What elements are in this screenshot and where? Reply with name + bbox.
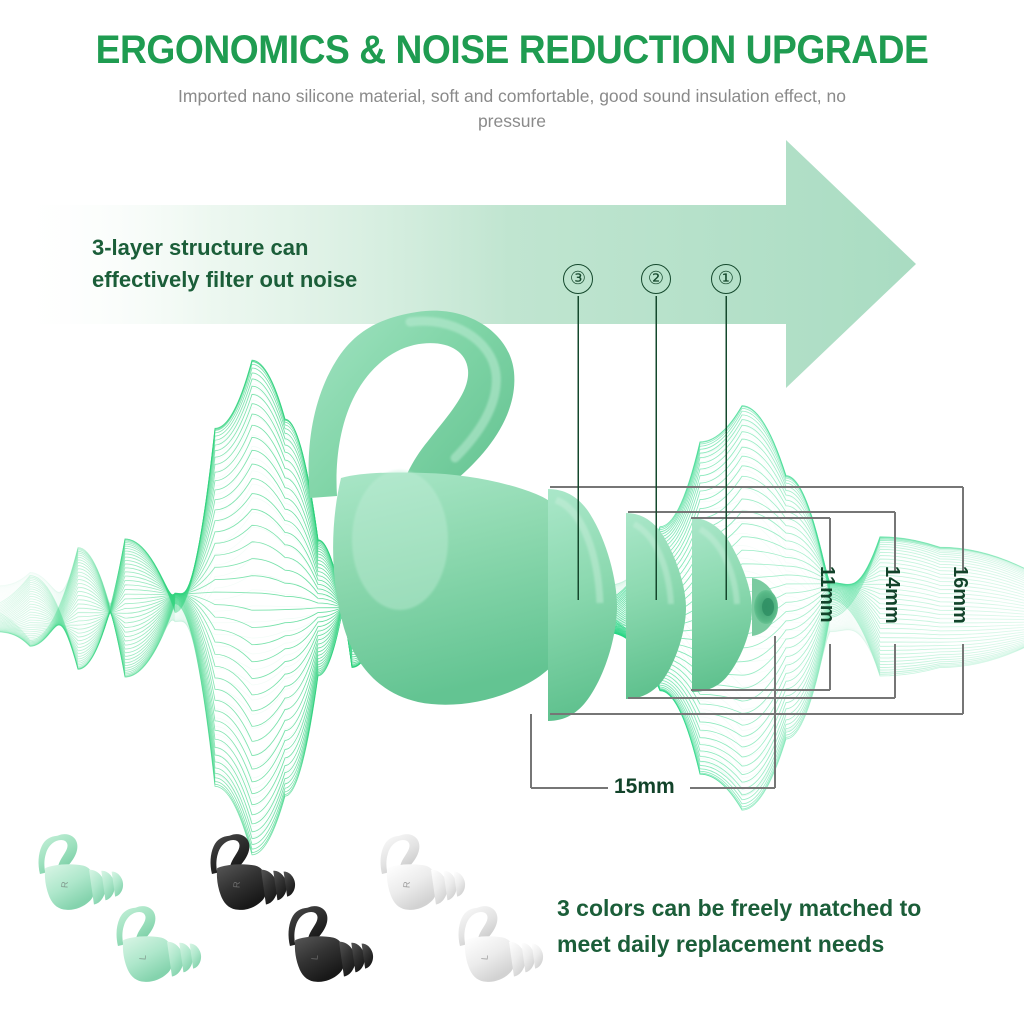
marker-1: ① — [711, 264, 741, 294]
dim-label-15mm: 15mm — [614, 775, 675, 799]
marker-3: ③ — [563, 264, 593, 294]
callout-3-layer: 3-layer structure can effectively filter… — [92, 232, 492, 296]
page-subtitle: Imported nano silicone material, soft an… — [162, 84, 862, 134]
page-title: ERGONOMICS & NOISE REDUCTION UPGRADE — [36, 28, 988, 73]
dim-label-14mm: 14mm — [880, 566, 903, 624]
infographic-page: RLRLRL ERGONOMICS & NOISE REDUCTION UPGR… — [0, 0, 1024, 1024]
callout-line-2: effectively filter out noise — [92, 264, 492, 296]
bottom-caption: 3 colors can be freely matched to meet d… — [557, 890, 1007, 962]
bottom-caption-line-2: meet daily replacement needs — [557, 926, 1007, 962]
callout-line-1: 3-layer structure can — [92, 232, 492, 264]
bottom-caption-line-1: 3 colors can be freely matched to — [557, 890, 1007, 926]
dim-label-16mm: 16mm — [948, 566, 971, 624]
marker-2: ② — [641, 264, 671, 294]
dim-label-11mm: 11mm — [815, 566, 838, 623]
text-layer: ERGONOMICS & NOISE REDUCTION UPGRADE Imp… — [0, 0, 1024, 1024]
